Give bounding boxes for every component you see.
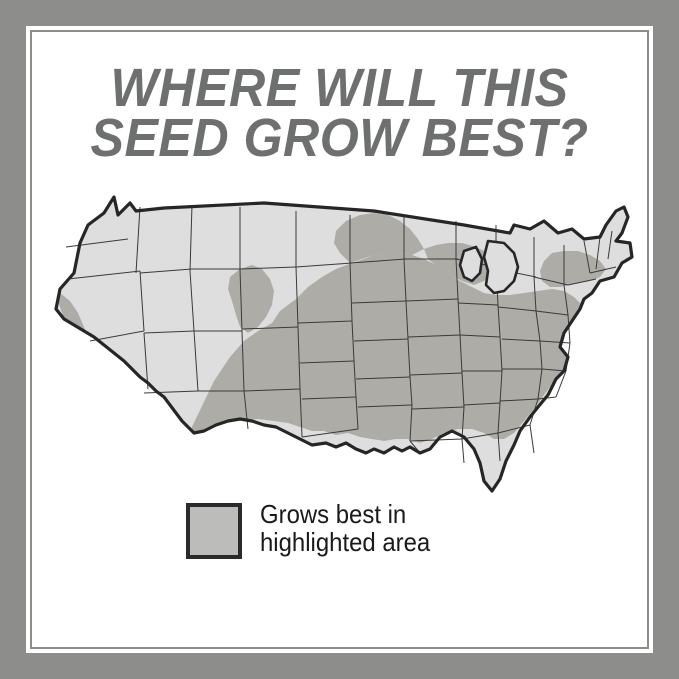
page-title: WHERE WILL THIS SEED GROW BEST? bbox=[57, 63, 622, 163]
united-states-map bbox=[44, 181, 635, 501]
us-map-svg bbox=[44, 181, 635, 501]
poster-content: WHERE WILL THIS SEED GROW BEST? bbox=[36, 36, 643, 643]
legend-label: Grows best in highlighted area bbox=[260, 500, 430, 556]
poster-root: WHERE WILL THIS SEED GROW BEST? bbox=[0, 0, 679, 679]
map-legend: Grows best in highlighted area bbox=[186, 500, 445, 559]
legend-swatch bbox=[186, 503, 242, 559]
